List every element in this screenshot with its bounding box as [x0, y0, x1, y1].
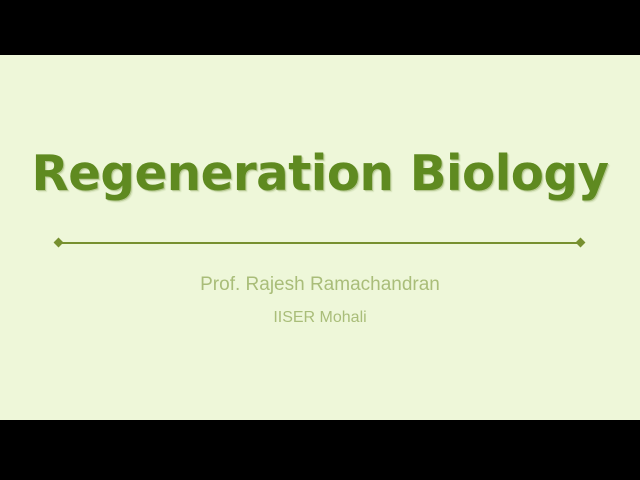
video-frame: Regeneration Biology Prof. Rajesh Ramach…: [0, 0, 640, 480]
presenter-name: Prof. Rajesh Ramachandran: [0, 273, 640, 297]
divider-line: [60, 242, 579, 244]
title-divider: [55, 237, 584, 248]
letterbox-bar-top: [0, 0, 640, 55]
slide-title: Regeneration Biology: [5, 147, 635, 201]
presenter-affiliation: IISER Mohali: [0, 307, 640, 328]
divider-cap-right-icon: [576, 238, 586, 248]
presentation-slide: Regeneration Biology Prof. Rajesh Ramach…: [0, 55, 640, 420]
letterbox-bar-bottom: [0, 420, 640, 480]
